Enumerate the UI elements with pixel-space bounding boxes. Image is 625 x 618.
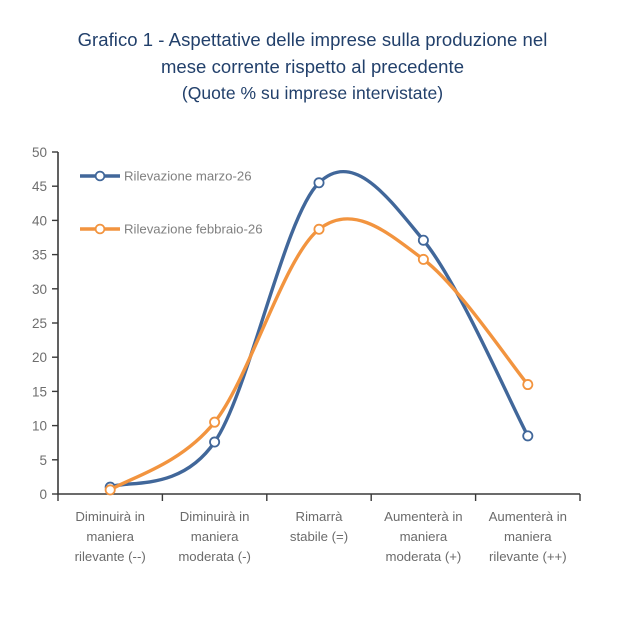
- x-axis-tick-label-line: rilevante (--): [75, 549, 146, 564]
- series-line-2: [110, 219, 528, 490]
- x-axis-tick-label-line: stabile (=): [290, 529, 348, 544]
- y-axis-tick-label: 50: [32, 145, 47, 160]
- x-axis-tick-label-line: Aumenterà in: [489, 509, 567, 524]
- y-axis-tick-label: 30: [32, 282, 47, 297]
- y-axis-tick-label: 20: [32, 350, 47, 365]
- data-point-marker[interactable]: [523, 431, 532, 440]
- series-line-1: [110, 172, 528, 488]
- legend-label: Rilevazione febbraio-26: [124, 221, 263, 236]
- y-axis-tick-label: 25: [32, 316, 47, 331]
- data-point-marker[interactable]: [314, 225, 323, 234]
- x-axis-tick-label-line: Aumenterà in: [384, 509, 462, 524]
- y-axis-tick-label: 35: [32, 248, 47, 263]
- chart-title-line-2: mese corrente rispetto al precedente: [0, 53, 625, 80]
- x-axis-tick-label-line: moderata (-): [178, 549, 251, 564]
- data-point-marker[interactable]: [523, 380, 532, 389]
- legend-label: Rilevazione marzo-26: [124, 168, 252, 183]
- x-axis-tick-label-line: maniera: [400, 529, 448, 544]
- legend-swatch-marker: [96, 172, 105, 181]
- chart-title-line-1: Grafico 1 - Aspettative delle imprese su…: [0, 26, 625, 53]
- x-axis-tick-label-line: Diminuirà in: [180, 509, 250, 524]
- chart-title-subtitle: (Quote % su imprese intervistate): [0, 80, 625, 107]
- y-axis-tick-label: 40: [32, 213, 47, 228]
- data-point-marker[interactable]: [210, 418, 219, 427]
- x-axis-tick-label: Diminuirà inmanieramoderata (-): [178, 509, 251, 564]
- chart-title: Grafico 1 - Aspettative delle imprese su…: [0, 26, 625, 107]
- x-axis-tick-label: Rimarràstabile (=): [290, 509, 348, 544]
- x-axis-tick-label: Diminuirà inmanierarilevante (--): [75, 509, 146, 564]
- legend-item-1[interactable]: Rilevazione marzo-26: [80, 168, 252, 183]
- x-axis-tick-label-line: rilevante (++): [489, 549, 567, 564]
- x-axis-tick-label: Aumenterà inmanieramoderata (+): [384, 509, 462, 564]
- x-axis-tick-label-line: Diminuirà in: [75, 509, 145, 524]
- x-axis-tick-label-line: maniera: [86, 529, 134, 544]
- data-point-marker[interactable]: [314, 178, 323, 187]
- y-axis-tick-label: 45: [32, 179, 47, 194]
- legend-swatch-marker: [96, 225, 105, 234]
- y-axis-tick-label: 15: [32, 384, 47, 399]
- x-axis-tick-label-line: moderata (+): [385, 549, 461, 564]
- legend-item-2[interactable]: Rilevazione febbraio-26: [80, 221, 263, 236]
- x-axis-tick-label: Aumenterà inmanierarilevante (++): [489, 509, 567, 564]
- data-point-marker[interactable]: [210, 437, 219, 446]
- x-axis-tick-label-line: maniera: [191, 529, 239, 544]
- data-point-marker[interactable]: [419, 236, 428, 245]
- chart-figure: Grafico 1 - Aspettative delle imprese su…: [0, 0, 625, 618]
- data-point-marker[interactable]: [106, 485, 115, 494]
- chart-axes: [58, 152, 580, 494]
- y-axis-tick-label: 10: [32, 419, 47, 434]
- x-axis-tick-label-line: maniera: [504, 529, 552, 544]
- y-axis-tick-label: 0: [39, 487, 47, 502]
- data-point-marker[interactable]: [419, 255, 428, 264]
- x-axis-tick-label-line: Rimarrà: [296, 509, 344, 524]
- y-axis-tick-label: 5: [39, 453, 47, 468]
